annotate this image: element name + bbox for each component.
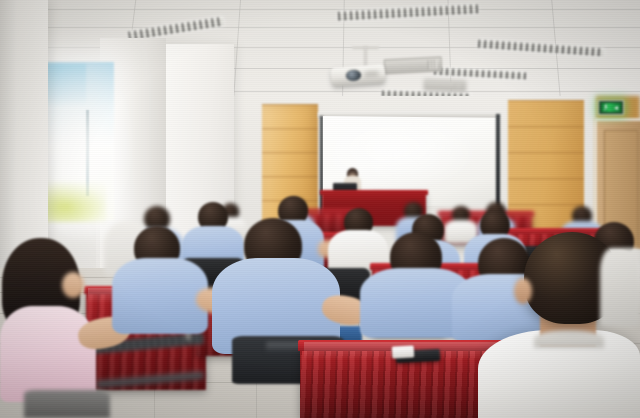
conference-room-photo: A classroom-style meeting room with rows… [0, 0, 640, 418]
smartphone[interactable] [392, 345, 415, 358]
arrow-right-icon [614, 106, 618, 110]
shirt-collar [534, 330, 604, 348]
face [62, 272, 84, 298]
exit-sign-face [601, 103, 621, 112]
attendee-right-edge [600, 248, 640, 326]
emergency-exit-sign [598, 100, 624, 115]
running-man-icon [604, 104, 608, 111]
ear [514, 278, 532, 304]
ceiling-air-vent [384, 56, 443, 74]
projection-screen-right-edge [496, 114, 500, 212]
ceiling-air-vent [424, 79, 466, 91]
projector-vent-icon [365, 71, 378, 79]
skirt [24, 390, 110, 418]
